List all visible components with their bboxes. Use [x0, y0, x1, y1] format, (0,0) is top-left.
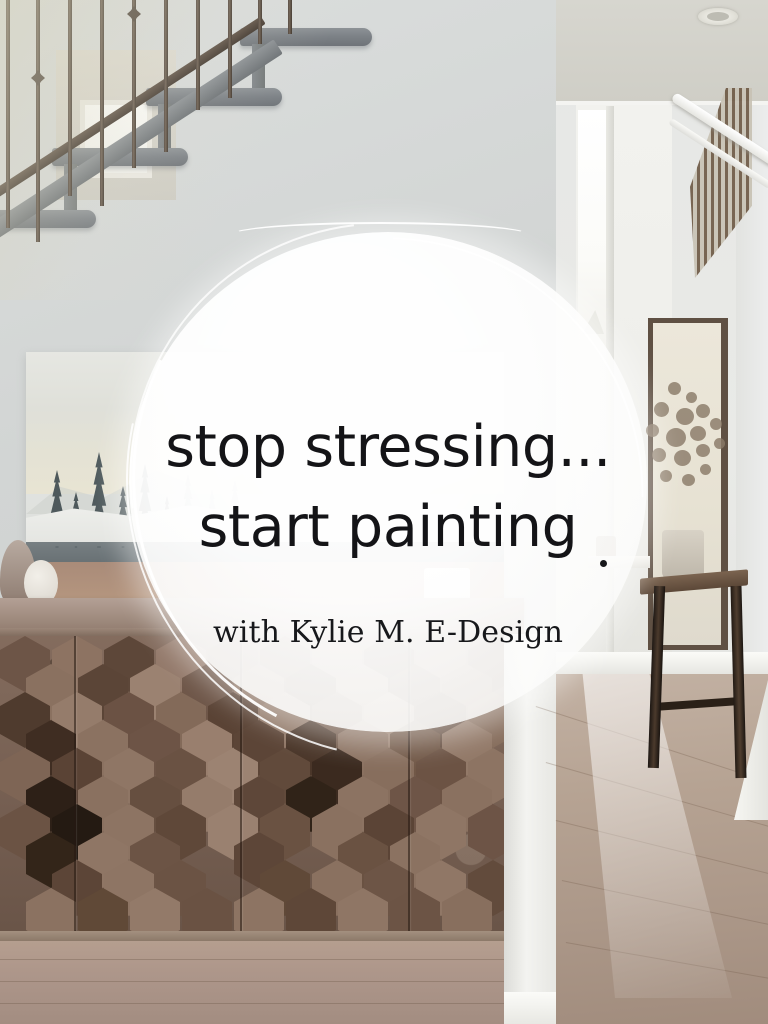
headline-line-2: start painting — [199, 490, 578, 564]
credenza-door-seam — [74, 636, 76, 941]
console-vase — [662, 530, 704, 580]
image-canvas: stop stressing... start painting with Ky… — [0, 0, 768, 1024]
recessed-light-icon — [698, 8, 738, 25]
headline-line-1: stop stressing... — [165, 410, 611, 484]
overlay-text-block: stop stressing... start painting with Ky… — [118, 218, 658, 758]
overlay-subtitle: with Kylie M. E-Design — [213, 616, 563, 650]
